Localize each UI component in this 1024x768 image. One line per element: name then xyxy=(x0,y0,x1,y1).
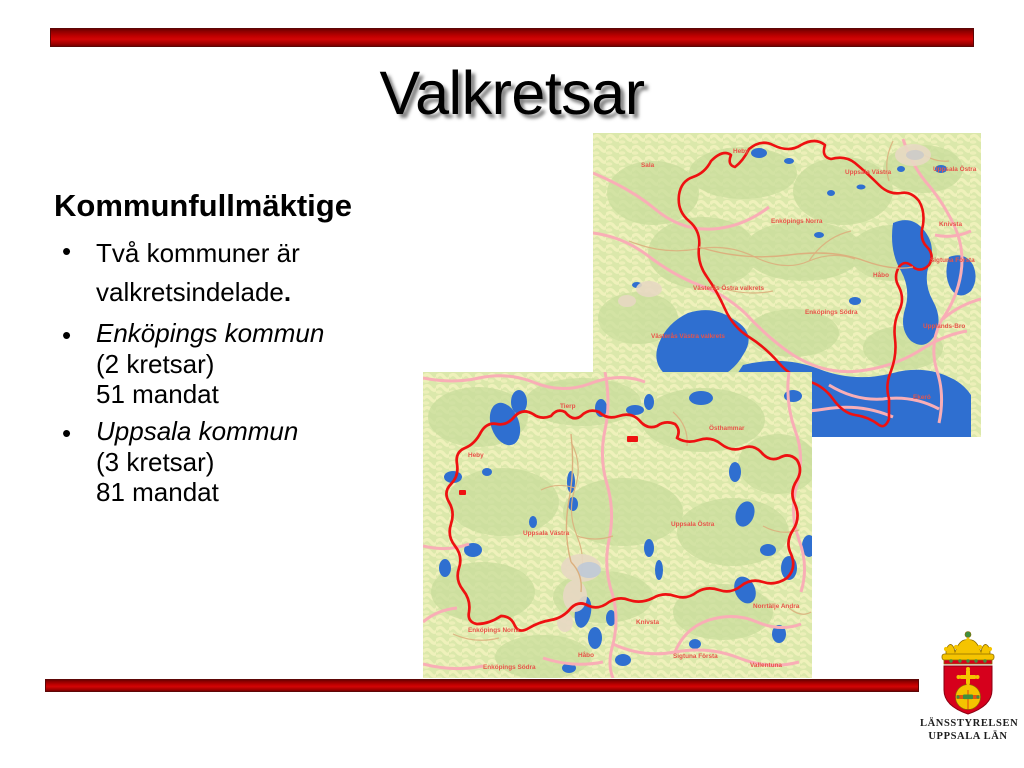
bullet-3-line-1: Uppsala kommun xyxy=(96,416,454,447)
map-label: Sala xyxy=(641,162,655,169)
uppsala-coat-of-arms-icon xyxy=(920,628,1016,716)
bullet-1-line-2: valkretsindelade. xyxy=(96,273,454,312)
lansstyrelsen-uppsala-lan-logo: LÄNSSTYRELSEN UPPSALA LÄN xyxy=(920,628,1016,744)
logo-line-2: UPPSALA LÄN xyxy=(920,730,1016,743)
bullet-item-1: • Två kommuner är valkretsindelade. xyxy=(54,234,454,312)
map-label: Upplands-Bro xyxy=(923,323,965,330)
bullet-1-line-2-period: . xyxy=(284,277,291,307)
bullet-marker-icon: • xyxy=(54,416,96,451)
bullet-2-line-2: (2 kretsar) xyxy=(96,349,454,380)
logo-line-1: LÄNSSTYRELSEN xyxy=(920,717,1016,730)
map-label: Västerås Östra valkrets xyxy=(693,283,765,292)
bullet-item-2: • Enköpings kommun (2 kretsar) 51 mandat xyxy=(54,318,454,410)
bullet-1-line-1: Två kommuner är xyxy=(96,234,454,273)
bullet-marker-icon: • xyxy=(54,234,96,269)
page-title: Valkretsar xyxy=(0,58,1024,128)
map-label: Knivsta xyxy=(939,221,963,228)
map-label: Håbo xyxy=(578,651,594,659)
map-label: Uppsala Östra xyxy=(671,519,715,528)
bullet-3-line-3: 81 mandat xyxy=(96,477,454,508)
orb-icon xyxy=(956,684,981,710)
bottom-red-rule xyxy=(45,679,919,692)
bullet-text-3: Uppsala kommun (3 kretsar) 81 mandat xyxy=(96,416,454,508)
map-label: Heby xyxy=(733,148,749,155)
bullet-2-line-3: 51 mandat xyxy=(96,379,454,410)
bullet-1-line-2-text: valkretsindelade xyxy=(96,277,284,307)
bullet-2-line-1: Enköpings kommun xyxy=(96,318,454,349)
map-label: Enköpings Norra xyxy=(771,218,823,225)
map-label: Sigtuna Första xyxy=(930,257,975,264)
bullet-text-1: Två kommuner är valkretsindelade. xyxy=(96,234,454,312)
map-label: Norrtälje Andra xyxy=(753,603,800,610)
map-label: Uppsala Östra xyxy=(933,164,977,173)
map-label: Uppsala Västra xyxy=(523,530,570,537)
section-heading: Kommunfullmäktige xyxy=(54,188,454,224)
uppsala-kommun-valkretsar-map: TierpÖsthammarHebyUppsala VästraUppsala … xyxy=(423,372,812,678)
map-label: Tierp xyxy=(560,403,576,410)
map-label: Enköpings Södra xyxy=(805,309,858,316)
map-label: Knivsta xyxy=(636,619,660,626)
map-label: Ekerö xyxy=(913,394,931,401)
map-label: Håbo xyxy=(873,271,889,279)
top-red-rule xyxy=(50,28,974,47)
bullet-marker-icon: • xyxy=(54,318,96,353)
bullet-item-3: • Uppsala kommun (3 kretsar) 81 mandat xyxy=(54,416,454,508)
content-text-column: Kommunfullmäktige • Två kommuner är valk… xyxy=(54,188,454,508)
logo-text: LÄNSSTYRELSEN UPPSALA LÄN xyxy=(920,717,1016,744)
map-label: Vallentuna xyxy=(750,662,782,669)
bullet-3-line-2: (3 kretsar) xyxy=(96,447,454,478)
map-bottom-labels: TierpÖsthammarHebyUppsala VästraUppsala … xyxy=(423,372,812,678)
map-label: Enköpings Södra xyxy=(483,664,536,671)
bullet-text-2: Enköpings kommun (2 kretsar) 51 mandat xyxy=(96,318,454,410)
map-label: Enköpings Norra xyxy=(468,627,520,634)
crown-icon xyxy=(942,632,994,665)
map-label: Västerås Västra valkrets xyxy=(651,332,725,340)
shield-icon xyxy=(944,666,992,714)
map-label: Uppsala Västra xyxy=(845,169,892,176)
map-label: Östhammar xyxy=(709,423,745,432)
map-label: Heby xyxy=(468,452,484,459)
map-label: Sigtuna Första xyxy=(673,653,718,660)
